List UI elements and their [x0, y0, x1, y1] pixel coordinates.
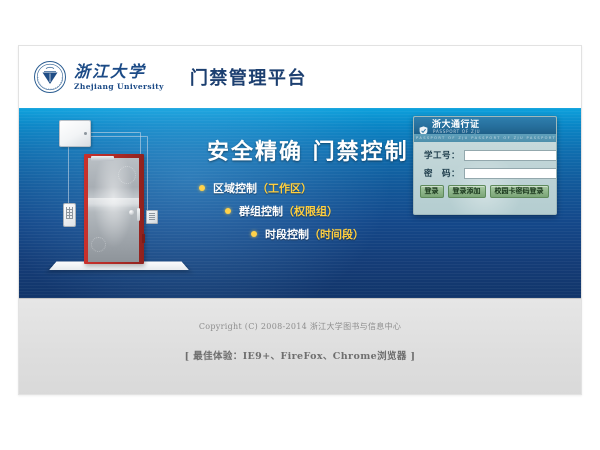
feature-paren: （工作区） — [257, 180, 312, 196]
login-button[interactable]: 登录 — [420, 185, 444, 198]
keypad-reader-icon — [63, 203, 76, 227]
feature-paren: （权限组） — [283, 203, 338, 219]
password-label: 密 码： — [420, 167, 460, 179]
passport-watermark-strip: PASSPORT OF ZJU PASSPORT OF ZJU PASSPORT… — [414, 134, 556, 142]
login-panel: 浙大通行证 PASSPORT OF ZJU PASSPORT OF ZJU PA… — [413, 116, 557, 215]
feature-paren: （时间段） — [309, 226, 364, 242]
door-access-control-illustration — [41, 114, 201, 294]
banner-headline: 安全精确 门禁控制 — [207, 134, 424, 166]
wire-icon — [68, 145, 69, 203]
hero-banner: 安全精确 门禁控制 区域控制 （工作区） 群组控制 （权限组） 时段控制 （时间… — [19, 108, 581, 298]
userid-input[interactable] — [464, 150, 557, 161]
feature-label: 群组控制 — [239, 203, 283, 219]
feature-label: 区域控制 — [213, 180, 257, 196]
door-handle-icon — [137, 208, 140, 221]
card-reader-icon — [146, 210, 158, 224]
passport-strip-text: PASSPORT OF ZJU PASSPORT OF ZJU PASSPORT… — [414, 136, 556, 140]
gear-icon — [91, 237, 106, 252]
bullet-icon — [225, 208, 231, 214]
wire-icon — [89, 136, 147, 137]
logo-text: 浙江大学 Zhejiang University — [74, 64, 164, 91]
feature-item-time-control: 时段控制 （时间段） — [199, 226, 424, 242]
banner-copy: 安全精确 门禁控制 区域控制 （工作区） 群组控制 （权限组） 时段控制 （时间… — [199, 134, 424, 249]
login-panel-header: 浙大通行证 PASSPORT OF ZJU — [414, 117, 556, 134]
feature-list: 区域控制 （工作区） 群组控制 （权限组） 时段控制 （时间段） — [199, 180, 424, 242]
site-footer: Copyright (C) 2008-2014 浙江大学图书与信息中心 [ 最佳… — [19, 298, 581, 395]
login-add-button[interactable]: 登录添加 — [448, 185, 486, 198]
footer-browser-support: [ 最佳体验：IE9+、FireFox、Chrome浏览器 ] — [185, 348, 416, 362]
page-card: 浙江大学 Zhejiang University 门禁管理平台 — [18, 45, 582, 395]
page-title: 门禁管理平台 — [190, 64, 307, 90]
campus-card-login-button[interactable]: 校园卡密码登录 — [490, 185, 549, 198]
door-knob-icon — [129, 210, 134, 215]
login-button-row: 登录 登录添加 校园卡密码登录 — [420, 185, 548, 198]
bullet-icon — [199, 185, 205, 191]
gear-icon — [118, 166, 136, 184]
wire-icon — [147, 136, 148, 210]
red-framed-door — [84, 154, 144, 264]
controller-box-icon — [59, 120, 91, 147]
wire-icon — [88, 132, 140, 133]
logo-name-en: Zhejiang University — [74, 83, 164, 91]
form-row-password: 密 码： — [420, 167, 548, 179]
site-header: 浙江大学 Zhejiang University 门禁管理平台 — [19, 46, 581, 108]
university-logo[interactable]: 浙江大学 Zhejiang University — [33, 60, 164, 94]
door-closer-icon — [91, 156, 114, 161]
university-seal-icon — [33, 60, 67, 94]
bullet-icon — [251, 231, 257, 237]
userid-label: 学工号： — [420, 149, 460, 161]
password-input[interactable] — [464, 168, 557, 179]
footer-copyright: Copyright (C) 2008-2014 浙江大学图书与信息中心 — [199, 321, 401, 332]
login-form: 学工号： 密 码： 登录 登录添加 校园卡密码登录 — [414, 142, 556, 198]
feature-label: 时段控制 — [265, 226, 309, 242]
logo-name-cn: 浙江大学 — [74, 64, 164, 80]
feature-item-area-control: 区域控制 （工作区） — [199, 180, 424, 196]
door-strike-icon — [142, 234, 145, 243]
feature-item-group-control: 群组控制 （权限组） — [199, 203, 424, 219]
form-row-userid: 学工号： — [420, 149, 548, 161]
shield-icon — [419, 121, 428, 131]
